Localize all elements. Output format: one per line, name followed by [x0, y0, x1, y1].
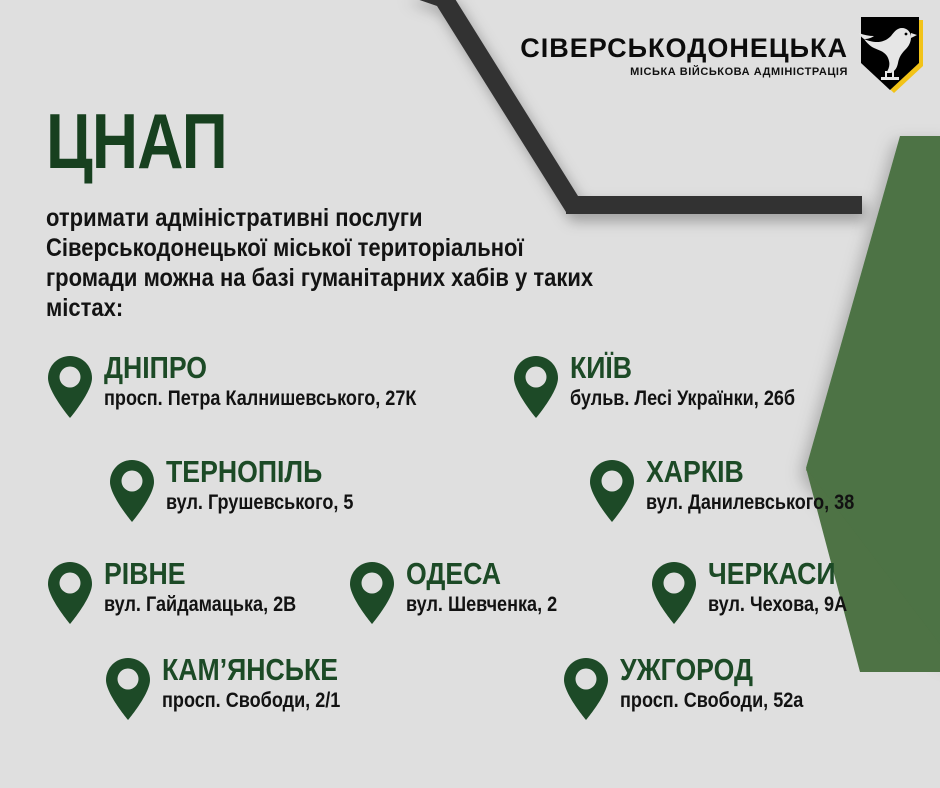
city-name: ЧЕРКАСИ — [708, 558, 847, 589]
city-text-block: РІВНЕ вул. Гайдамацька, 2В — [104, 558, 327, 617]
infographic-poster: СІВЕРСЬКОДОНЕЦЬКА МІСЬКА ВІЙСЬКОВА АДМІН… — [0, 0, 940, 788]
city-address: вул. Грушевського, 5 — [166, 491, 353, 515]
logo-text-block: СІВЕРСЬКОДОНЕЦЬКА МІСЬКА ВІЙСЬКОВА АДМІН… — [520, 34, 848, 77]
city-name: ОДЕСА — [406, 558, 557, 589]
city-text-block: УЖГОРОД просп. Свободи, 52а — [620, 654, 833, 713]
city-entry-uzhhorod[interactable]: УЖГОРОД просп. Свободи, 52а — [562, 654, 833, 722]
map-pin-icon — [588, 458, 636, 524]
intro-paragraph: отримати адміністративні послуги Сіверсь… — [46, 203, 662, 323]
city-text-block: ТЕРНОПІЛЬ вул. Грушевського, 5 — [166, 456, 384, 515]
city-address: вул. Чехова, 9А — [708, 593, 847, 617]
city-entry-odesa[interactable]: ОДЕСА вул. Шевченка, 2 — [348, 558, 582, 626]
logo-subtitle: МІСЬКА ВІЙСЬКОВА АДМІНІСТРАЦІЯ — [520, 66, 848, 78]
city-text-block: ОДЕСА вул. Шевченка, 2 — [406, 558, 582, 617]
city-text-block: ХАРКІВ вул. Данилевського, 38 — [646, 456, 888, 515]
city-entry-cherkasy[interactable]: ЧЕРКАСИ вул. Чехова, 9А — [650, 558, 870, 626]
city-address: просп. Петра Калнишевського, 27К — [104, 387, 416, 411]
logo-title: СІВЕРСЬКОДОНЕЦЬКА — [520, 34, 848, 62]
city-name: ХАРКІВ — [646, 456, 854, 487]
city-address: просп. Свободи, 52а — [620, 689, 803, 713]
city-entry-kyiv[interactable]: КИЇВ бульв. Лесі Українки, 26б — [512, 352, 832, 420]
map-pin-icon — [46, 560, 94, 626]
map-pin-icon — [562, 656, 610, 722]
city-text-block: ЧЕРКАСИ вул. Чехова, 9А — [708, 558, 870, 617]
city-text-block: ДНІПРО просп. Петра Калнишевського, 27К — [104, 352, 467, 411]
city-text-block: КАМ’ЯНСЬКЕ просп. Свободи, 2/1 — [162, 654, 369, 713]
city-name: ДНІПРО — [104, 352, 416, 383]
city-address: просп. Свободи, 2/1 — [162, 689, 340, 713]
city-text-block: КИЇВ бульв. Лесі Українки, 26б — [570, 352, 832, 411]
map-pin-icon — [108, 458, 156, 524]
map-pin-icon — [512, 354, 560, 420]
city-entry-kamianske[interactable]: КАМ’ЯНСЬКЕ просп. Свободи, 2/1 — [104, 654, 369, 722]
falcon-shield-emblem-icon — [858, 16, 926, 96]
city-name: РІВНЕ — [104, 558, 296, 589]
city-entry-kharkiv[interactable]: ХАРКІВ вул. Данилевського, 38 — [588, 456, 888, 524]
city-address: вул. Данилевського, 38 — [646, 491, 854, 515]
city-address: вул. Гайдамацька, 2В — [104, 593, 296, 617]
city-address: бульв. Лесі Українки, 26б — [570, 387, 795, 411]
city-entry-ternopil[interactable]: ТЕРНОПІЛЬ вул. Грушевського, 5 — [108, 456, 384, 524]
map-pin-icon — [650, 560, 698, 626]
city-address: вул. Шевченка, 2 — [406, 593, 557, 617]
organization-logo: СІВЕРСЬКОДОНЕЦЬКА МІСЬКА ВІЙСЬКОВА АДМІН… — [520, 16, 926, 96]
falcon-eye — [905, 33, 908, 36]
map-pin-icon — [104, 656, 152, 722]
city-entry-dnipro[interactable]: ДНІПРО просп. Петра Калнишевського, 27К — [46, 352, 467, 420]
city-name: КАМ’ЯНСЬКЕ — [162, 654, 340, 685]
page-title: ЦНАП — [46, 106, 227, 178]
map-pin-icon — [46, 354, 94, 420]
map-pin-icon — [348, 560, 396, 626]
city-name: ТЕРНОПІЛЬ — [166, 456, 353, 487]
city-name: КИЇВ — [570, 352, 795, 383]
city-entry-rivne[interactable]: РІВНЕ вул. Гайдамацька, 2В — [46, 558, 327, 626]
city-name: УЖГОРОД — [620, 654, 803, 685]
